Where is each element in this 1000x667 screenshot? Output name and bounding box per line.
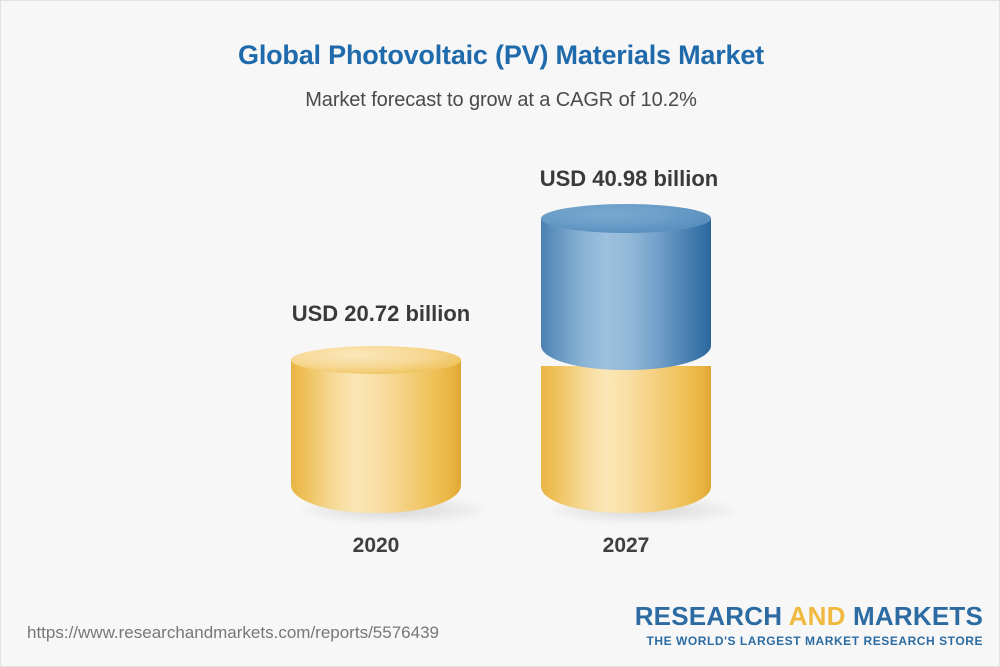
category-label-2020: 2020 [291,534,461,558]
logo-word-markets: MARKETS [853,601,983,631]
bar-2027-gold-body [541,366,711,513]
logo-word-and: AND [789,601,846,631]
bar-2027-segment-blue [541,218,711,370]
bar-2020-segment-gold [291,359,461,513]
source-url[interactable]: https://www.researchandmarkets.com/repor… [27,623,439,643]
bar-2027-blue-body [541,218,711,370]
logo-word-research: RESEARCH [635,601,783,631]
bar-2020-top-cap [291,346,461,374]
bar-2027-top-cap [541,204,711,233]
logo-wordmark: RESEARCH AND MARKETS [635,603,983,630]
bar-2027-segment-gold [541,366,711,513]
plot-area: USD 20.72 billion 2020 USD 40.98 billion [1,1,1000,601]
bar-2020-body [291,359,461,513]
logo-tagline: THE WORLD'S LARGEST MARKET RESEARCH STOR… [635,634,983,648]
brand-logo[interactable]: RESEARCH AND MARKETS THE WORLD'S LARGEST… [635,603,983,648]
value-label-2027: USD 40.98 billion [464,166,794,192]
value-label-2020: USD 20.72 billion [216,301,546,327]
chart-canvas: Global Photovoltaic (PV) Materials Marke… [0,0,1000,667]
category-label-2027: 2027 [541,534,711,558]
